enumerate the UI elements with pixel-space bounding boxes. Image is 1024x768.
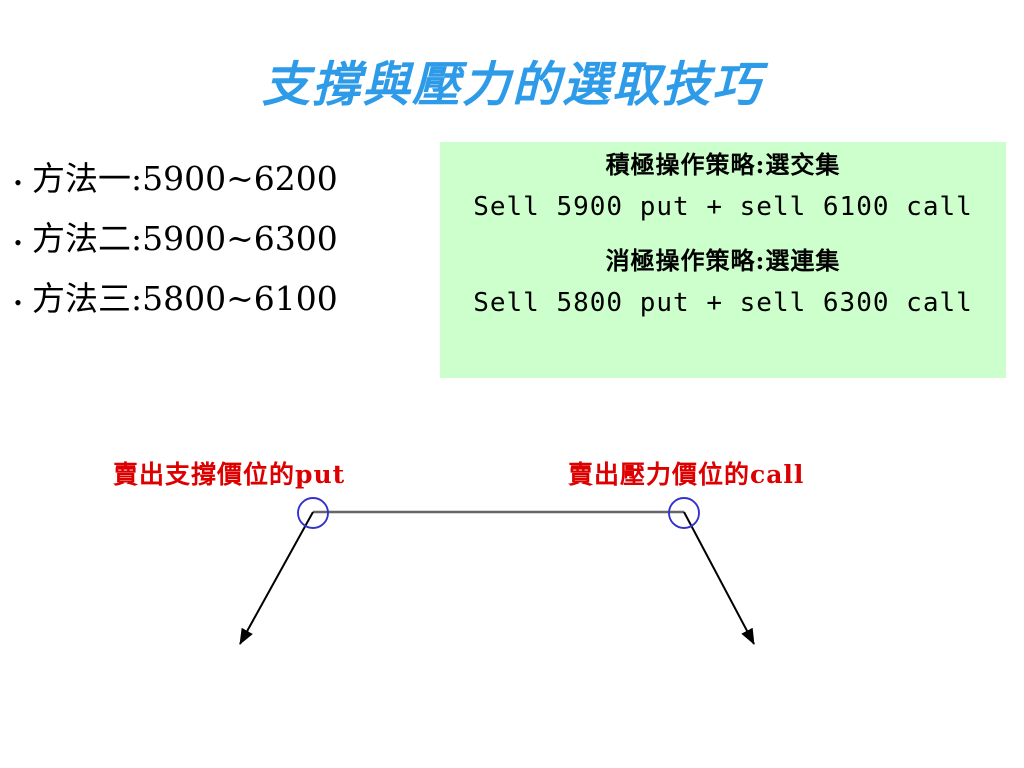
list-item: • 方法二:5900~6300 bbox=[4, 212, 434, 272]
page-title: 支撐與壓力的選取技巧 bbox=[0, 56, 1024, 114]
bullet-icon: • bbox=[4, 292, 32, 314]
downside-loss-arm bbox=[240, 512, 313, 644]
list-item: • 方法一:5900~6200 bbox=[4, 152, 434, 212]
method-list: • 方法一:5900~6200 • 方法二:5900~6300 • 方法三:58… bbox=[4, 152, 434, 332]
payoff-diagram: 賣出支撐價位的put 賣出壓力價位的call bbox=[0, 430, 1024, 690]
method-2-label: 方法二:5900~6300 bbox=[32, 212, 338, 260]
upside-loss-arm bbox=[684, 512, 754, 644]
payoff-chart-svg bbox=[0, 430, 1024, 690]
aggressive-strategy-heading: 積極操作策略:選交集 bbox=[440, 148, 1006, 182]
passive-strategy-heading: 消極操作策略:選連集 bbox=[440, 244, 1006, 278]
passive-strategy-formula: Sell 5800 put + sell 6300 call bbox=[440, 278, 1006, 328]
bullet-icon: • bbox=[4, 232, 32, 254]
strategy-callout-box: 積極操作策略:選交集 Sell 5900 put + sell 6100 cal… bbox=[440, 142, 1006, 378]
aggressive-strategy-formula: Sell 5900 put + sell 6100 call bbox=[440, 182, 1006, 232]
strategy-spacer bbox=[440, 232, 1006, 244]
bullet-icon: • bbox=[4, 172, 32, 194]
list-item: • 方法三:5800~6100 bbox=[4, 272, 434, 332]
method-1-label: 方法一:5900~6200 bbox=[32, 152, 338, 200]
method-3-label: 方法三:5800~6100 bbox=[32, 272, 338, 320]
